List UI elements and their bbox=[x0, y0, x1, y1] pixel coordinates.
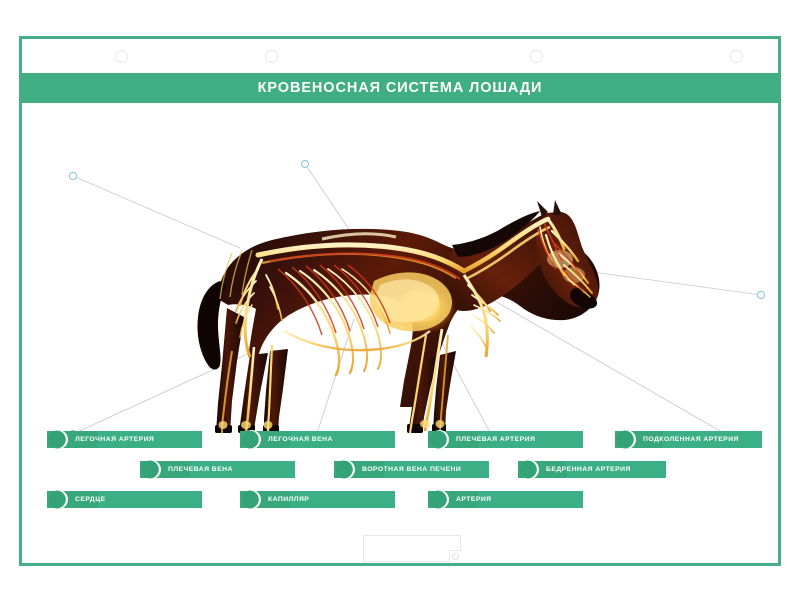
label-artery[interactable]: АРТЕРИЯ bbox=[428, 491, 583, 508]
label-brachial-artery[interactable]: ПЛЕЧЕВАЯ АРТЕРИЯ bbox=[428, 431, 583, 448]
label-legend: ЛЕГОЧНАЯ АРТЕРИЯЛЕГОЧНАЯ ВЕНАПЛЕЧЕВАЯ АР… bbox=[22, 431, 778, 531]
label-capillary[interactable]: КАПИЛЛЯР bbox=[240, 491, 395, 508]
label-pulmonary-artery-bullet-icon bbox=[49, 430, 68, 449]
label-popliteal-artery[interactable]: ПОДКОЛЕННАЯ АРТЕРИЯ bbox=[615, 431, 762, 448]
mount-hole-2-icon bbox=[265, 50, 278, 63]
label-hepatic-portal-vein-bullet-icon bbox=[336, 460, 355, 479]
label-femoral-artery-bullet-icon bbox=[520, 460, 539, 479]
leader-pulmonary-artery bbox=[73, 176, 240, 248]
illustration-svg bbox=[22, 103, 778, 433]
note-box-screw-icon bbox=[452, 553, 459, 560]
illustration-stage bbox=[22, 103, 778, 433]
label-brachial-vein[interactable]: ПЛЕЧЕВАЯ ВЕНА bbox=[140, 461, 295, 478]
poster-top-strip bbox=[22, 39, 778, 73]
leader-popliteal-artery bbox=[474, 289, 727, 433]
title-banner: КРОВЕНОСНАЯ СИСТЕМА ЛОШАДИ bbox=[21, 73, 779, 103]
page-title: КРОВЕНОСНАЯ СИСТЕМА ЛОШАДИ bbox=[258, 80, 543, 96]
label-capillary-bullet-icon bbox=[242, 490, 261, 509]
label-brachial-artery-bullet-icon bbox=[430, 430, 449, 449]
mount-hole-3-icon bbox=[530, 50, 543, 63]
blank-note-box[interactable] bbox=[363, 535, 461, 562]
label-brachial-vein-bullet-icon bbox=[142, 460, 161, 479]
label-heart[interactable]: СЕРДЦЕ bbox=[47, 491, 202, 508]
label-pulmonary-vein-bullet-icon bbox=[242, 430, 261, 449]
label-heart-bullet-icon bbox=[49, 490, 68, 509]
label-pulmonary-artery[interactable]: ЛЕГОЧНАЯ АРТЕРИЯ bbox=[47, 431, 202, 448]
mount-hole-1-icon bbox=[115, 50, 128, 63]
poster-frame: КРОВЕНОСНАЯ СИСТЕМА ЛОШАДИ bbox=[19, 36, 781, 566]
label-popliteal-artery-bullet-icon bbox=[617, 430, 636, 449]
leader-portal-vein bbox=[310, 319, 354, 433]
label-femoral-artery[interactable]: БЕДРЕННАЯ АРТЕРИЯ bbox=[518, 461, 666, 478]
label-artery-bullet-icon bbox=[430, 490, 449, 509]
label-hepatic-portal-vein[interactable]: ВОРОТНАЯ ВЕНА ПЕЧЕНИ bbox=[334, 461, 489, 478]
label-pulmonary-vein[interactable]: ЛЕГОЧНАЯ ВЕНА bbox=[240, 431, 395, 448]
mount-hole-4-icon bbox=[730, 50, 743, 63]
